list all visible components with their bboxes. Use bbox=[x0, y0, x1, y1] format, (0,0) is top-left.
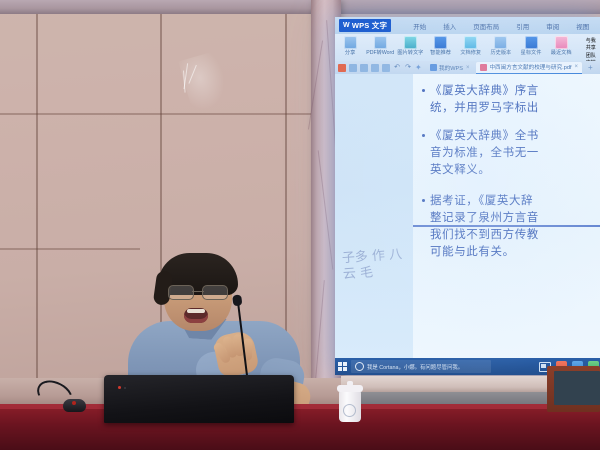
bullet-line: 可能与此有关。 bbox=[430, 244, 515, 258]
ribbon-button-recent-doc[interactable]: 最近文档 bbox=[546, 36, 576, 56]
menu-tab-reference[interactable]: 引用 bbox=[516, 21, 529, 31]
bullet-text: 《厦英大辞典》序言 统，并用罗马字标出 bbox=[430, 82, 539, 116]
ribbon-button-history-version[interactable]: 历史版本 bbox=[486, 36, 516, 56]
bullet-item-3: 据考证，《厦英大辞 整记录了泉州方言音 我们找不到西方传教 可能与此有关。 bbox=[422, 192, 598, 260]
history-version-icon bbox=[494, 36, 507, 49]
touch-mode-icon[interactable]: ✦ bbox=[415, 64, 423, 72]
slide-bullet-list: 《厦英大辞典》序言 统，并用罗马字标出 《厦英大辞典》全书 音为标准，全书无一 … bbox=[422, 82, 598, 271]
chair bbox=[547, 366, 600, 412]
new-icon[interactable] bbox=[382, 64, 390, 72]
pdf-to-word-icon bbox=[374, 36, 387, 49]
ribbon-label: 文档修复 bbox=[460, 50, 481, 56]
presenter-table bbox=[0, 404, 600, 450]
ribbon-button-shared-with-me[interactable]: 与我共享 bbox=[577, 37, 600, 51]
ribbon-label: 分享 bbox=[345, 50, 355, 56]
wall-seam bbox=[0, 113, 312, 115]
open-icon[interactable] bbox=[338, 64, 346, 72]
document-tab-my-wps[interactable]: 我的WPS × bbox=[426, 62, 473, 73]
wps-title-bar: W WPS 文字 开始 插入 页面布局 引用 审阅 视图 章节 bbox=[335, 17, 600, 34]
bullet-line: 《厦英大辞典》序言 bbox=[430, 83, 539, 97]
bullet-line: 音为标准，全书无一 bbox=[430, 145, 539, 159]
cup-lid bbox=[337, 385, 363, 392]
bullet-line: 据考证，《厦英大辞 bbox=[430, 193, 533, 207]
laptop-indicator-light bbox=[118, 386, 121, 389]
menu-tab-insert[interactable]: 插入 bbox=[443, 21, 456, 31]
chair-backrest bbox=[554, 371, 600, 405]
print-icon[interactable] bbox=[371, 64, 379, 72]
wps-app-logo: W WPS 文字 bbox=[339, 19, 391, 32]
print-preview-icon[interactable] bbox=[360, 64, 368, 72]
ribbon-label: 星标文件 bbox=[521, 50, 542, 56]
lecture-photo-scene: W WPS 文字 开始 插入 页面布局 引用 审阅 视图 章节 分享 PD bbox=[0, 0, 600, 450]
cup-decoration bbox=[343, 404, 356, 417]
wps-app-name: WPS 文字 bbox=[352, 20, 387, 31]
projection-screen: W WPS 文字 开始 插入 页面布局 引用 审阅 视图 章节 分享 PD bbox=[335, 17, 600, 375]
wall-seam bbox=[0, 248, 140, 250]
bullet-line: 整记录了泉州方言音 bbox=[430, 210, 539, 224]
table-edge bbox=[0, 404, 600, 409]
speaker-mouth bbox=[184, 308, 208, 323]
laptop bbox=[104, 375, 294, 423]
bullet-text: 据考证，《厦英大辞 整记录了泉州方言音 我们找不到西方传教 可能与此有关。 bbox=[430, 192, 539, 260]
document-tab-label: 我的WPS bbox=[439, 64, 463, 72]
shared-with-me-icon bbox=[577, 40, 583, 49]
menu-tab-page-layout[interactable]: 页面布局 bbox=[473, 21, 499, 31]
bullet-marker-icon bbox=[422, 199, 425, 202]
save-icon[interactable] bbox=[349, 64, 357, 72]
document-page: 《厦英大辞典》序言 统，并用罗马字标出 《厦英大辞典》全书 音为标准，全书无一 … bbox=[413, 74, 600, 358]
bullet-item-1: 《厦英大辞典》序言 统，并用罗马字标出 bbox=[422, 82, 598, 116]
menu-tab-review[interactable]: 审阅 bbox=[546, 21, 559, 31]
handwriting-overlay: 子多 作 八云 毛 bbox=[341, 247, 410, 327]
bullet-line: 英文释义。 bbox=[430, 162, 491, 176]
ribbon-button-star-file[interactable]: 星标文件 bbox=[516, 36, 546, 56]
start-button[interactable] bbox=[338, 362, 347, 371]
ribbon-label: 与我共享 bbox=[586, 37, 600, 51]
bullet-marker-icon bbox=[422, 134, 425, 137]
undo-icon[interactable]: ↶ bbox=[393, 64, 401, 72]
document-tab-label: 中西闽方言文献的校理与研究.pdf bbox=[489, 63, 571, 71]
mouse-scroll-wheel bbox=[72, 401, 76, 405]
ribbon-label: PDF转Word bbox=[366, 50, 394, 56]
ribbon-label: 图片转文字 bbox=[397, 50, 423, 56]
cortana-icon bbox=[355, 362, 364, 371]
ribbon-label: 智能推荐 bbox=[430, 50, 451, 56]
computer-mouse bbox=[63, 399, 86, 412]
ribbon-label: 历史版本 bbox=[490, 50, 511, 56]
image-to-text-icon bbox=[404, 36, 417, 49]
ribbon-label: 最近文档 bbox=[551, 50, 572, 56]
bullet-marker-icon bbox=[422, 89, 425, 92]
ribbon-button-doc-repair[interactable]: 文档修复 bbox=[456, 36, 486, 56]
laptop-logo bbox=[124, 387, 126, 389]
cup-knob bbox=[347, 381, 353, 386]
star-file-icon bbox=[525, 36, 538, 49]
close-icon[interactable]: × bbox=[575, 64, 579, 70]
bullet-item-2: 《厦英大辞典》全书 音为标准，全书无一 英文释义。 bbox=[422, 127, 598, 178]
ribbon-button-image-to-text[interactable]: 图片转文字 bbox=[395, 36, 425, 56]
ribbon-button-share[interactable]: 分享 bbox=[335, 36, 365, 56]
wall-seam bbox=[36, 14, 38, 408]
microphone-head bbox=[232, 294, 242, 306]
wps-ribbon: 分享 PDF转Word 图片转文字 智能推荐 文档修复 历史版本 bbox=[335, 34, 600, 63]
menu-tab-start[interactable]: 开始 bbox=[413, 21, 426, 31]
ceiling bbox=[0, 0, 600, 14]
recent-doc-icon bbox=[555, 36, 568, 49]
menu-tab-view[interactable]: 视图 bbox=[576, 21, 589, 31]
bullet-line: 《厦英大辞典》全书 bbox=[430, 128, 539, 142]
bullet-line: 统，并用罗马字标出 bbox=[430, 100, 539, 114]
tea-cup bbox=[339, 390, 361, 422]
eyeglasses-icon bbox=[167, 285, 229, 299]
close-icon[interactable]: × bbox=[466, 65, 470, 71]
smart-recommend-icon bbox=[434, 36, 447, 49]
wps-logo-mark: W bbox=[343, 22, 350, 29]
share-doc-icon bbox=[344, 36, 357, 49]
wps-menu-bar: 开始 插入 页面布局 引用 审阅 视图 章节 bbox=[413, 21, 600, 31]
redo-icon[interactable]: ↷ bbox=[404, 64, 412, 72]
document-canvas[interactable]: 子多 作 八云 毛 《厦英大辞典》序言 统，并用罗马字标出 《厦英 bbox=[335, 74, 600, 358]
doc-repair-icon bbox=[464, 36, 477, 49]
ribbon-button-pdf-to-word[interactable]: PDF转Word bbox=[365, 36, 395, 56]
bullet-text: 《厦英大辞典》全书 音为标准，全书无一 英文释义。 bbox=[430, 127, 539, 178]
new-tab-button[interactable]: + bbox=[588, 63, 593, 72]
document-tab-active-pdf[interactable]: 中西闽方言文献的校理与研究.pdf × bbox=[476, 62, 582, 74]
pdf-file-icon bbox=[480, 64, 487, 71]
ribbon-button-smart-recommend[interactable]: 智能推荐 bbox=[425, 36, 455, 56]
wps-cloud-icon bbox=[430, 64, 437, 71]
bullet-line: 我们找不到西方传教 bbox=[430, 227, 539, 241]
cortana-placeholder: 我是 Cortana，小娜。有问题尽管问我。 bbox=[367, 363, 463, 371]
cortana-search-input[interactable]: 我是 Cortana，小娜。有问题尽管问我。 bbox=[351, 360, 491, 373]
wps-document-tab-strip: ↶ ↷ ✦ 我的WPS × 中西闽方言文献的校理与研究.pdf × + bbox=[335, 61, 600, 74]
